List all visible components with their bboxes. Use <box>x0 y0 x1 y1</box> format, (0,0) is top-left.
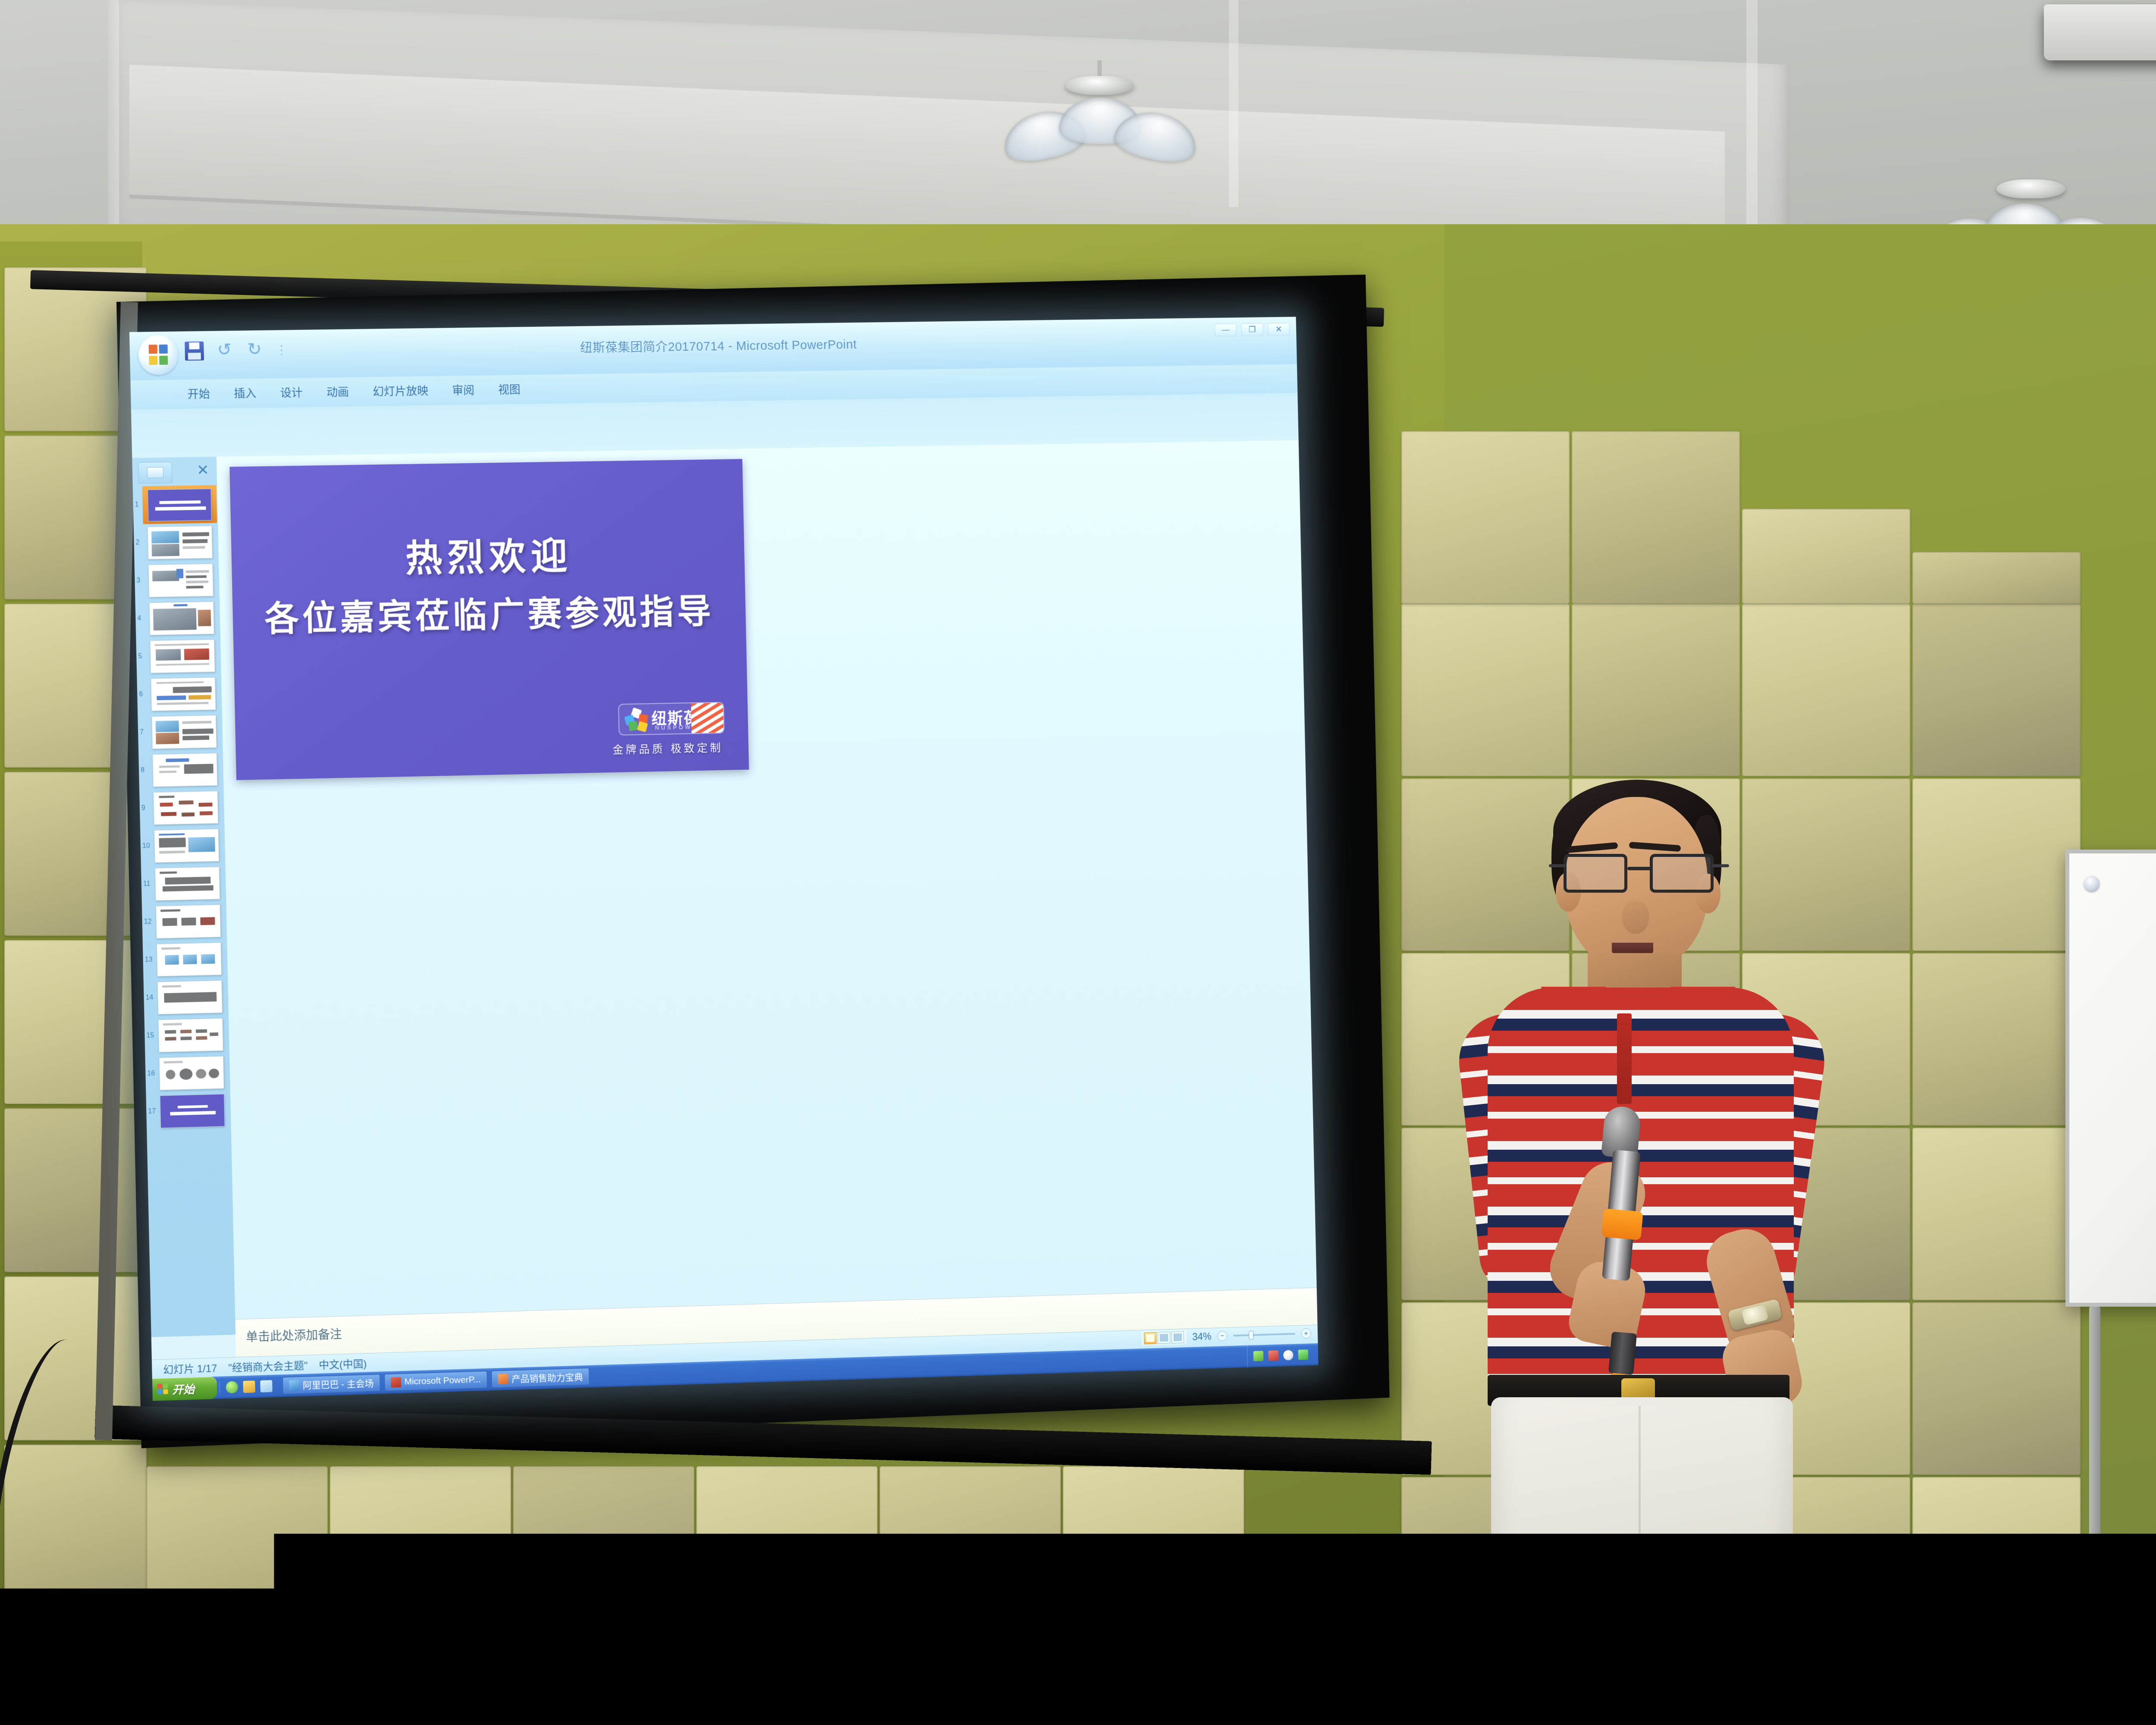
theme-name[interactable]: "经销商大会主题" <box>228 1357 308 1374</box>
tab-slides-thumbnails[interactable] <box>138 462 172 484</box>
slide-thumbnail-image <box>159 1056 224 1091</box>
glasses-bridge <box>1627 867 1651 870</box>
language-indicator[interactable]: 中文(中国) <box>319 1355 367 1372</box>
clock-icon[interactable] <box>1283 1350 1294 1360</box>
slide-thumbnail-12[interactable]: 12 <box>151 904 223 939</box>
window-control-buttons: — ❐ ✕ <box>1215 323 1290 336</box>
slide-thumbnail-image <box>154 829 219 863</box>
trousers <box>1491 1397 1793 1725</box>
tab-design[interactable]: 设计 <box>280 384 303 400</box>
glasses-temple-left <box>1549 864 1566 867</box>
network-icon[interactable] <box>1253 1351 1264 1361</box>
tab-slideshow[interactable]: 幻灯片放映 <box>373 382 429 399</box>
tab-animations[interactable]: 动画 <box>326 383 349 400</box>
taskbar-item-internet[interactable]: 阿里巴巴 - 主会场 <box>282 1374 380 1395</box>
file-explorer-icon[interactable] <box>243 1380 255 1393</box>
light-canopy <box>1065 76 1134 95</box>
glasses-temple-right <box>1712 864 1729 867</box>
logo-star-icon <box>625 709 648 731</box>
slide-show-view-button[interactable] <box>1171 1331 1184 1343</box>
slide-number: 8 <box>141 766 144 774</box>
slide-number: 6 <box>139 690 143 698</box>
tab-review[interactable]: 审阅 <box>452 382 474 398</box>
start-button[interactable]: 开始 <box>152 1377 217 1401</box>
shirt-placket <box>1617 1013 1632 1104</box>
zoom-slider-handle[interactable] <box>1249 1331 1253 1339</box>
slide-editing-area: 热烈欢迎 各位嘉宾莅临广赛参观指导 纽斯葆 NUS <box>216 440 1317 1335</box>
taskbar-item-powerpoint[interactable]: Microsoft PowerP... <box>384 1371 488 1391</box>
tab-insert[interactable]: 插入 <box>234 385 257 401</box>
projector-housing-left <box>2044 4 2156 60</box>
powerpoint-icon <box>391 1377 401 1388</box>
slide-number: 12 <box>144 918 152 926</box>
slide-number: 1 <box>135 501 139 509</box>
slide-thumbnail-8[interactable]: 8 <box>148 753 220 787</box>
company-logo: 纽斯葆 NUSPOWER <box>618 702 724 735</box>
slide-thumbnail-image <box>147 489 212 521</box>
powerpoint-window: ↺ ↻ ⋮ 纽斯葆集团简介20170714 - Microsoft PowerP… <box>129 317 1318 1401</box>
whiteboard-stand-left <box>2089 1307 2100 1721</box>
slide-title-line-2: 各位嘉宾莅临广赛参观指导 <box>232 583 746 641</box>
minimize-button[interactable]: — <box>1215 323 1237 336</box>
quick-launch-bar <box>219 1380 279 1394</box>
notes-placeholder: 单击此处添加备注 <box>246 1325 342 1345</box>
projected-screen-content: ↺ ↻ ⋮ 纽斯葆集团简介20170714 - Microsoft PowerP… <box>129 317 1318 1401</box>
slide-thumbnail-7[interactable]: 7 <box>147 715 219 749</box>
slide-thumbnail-image <box>153 791 218 825</box>
slide-thumbnail-11[interactable]: 11 <box>150 866 222 901</box>
slide-number: 17 <box>148 1108 156 1116</box>
slide-thumbnail-15[interactable]: 15 <box>154 1018 226 1053</box>
zoom-in-button[interactable]: + <box>1301 1328 1311 1339</box>
slide-sorter-view-button[interactable] <box>1158 1332 1171 1344</box>
slide-thumbnail-image <box>148 564 213 597</box>
slide-thumbnail-image <box>160 1094 225 1128</box>
slide-number: 9 <box>141 804 145 812</box>
normal-view-button[interactable] <box>1144 1332 1157 1344</box>
slide-number: 13 <box>145 956 153 964</box>
ceiling-light-left <box>996 60 1203 203</box>
ribbon-tabs: 开始 插入 设计 动画 幻灯片放映 审阅 视图 <box>188 381 521 401</box>
watch-face <box>1741 1305 1768 1325</box>
slide-thumbnail-image <box>149 602 214 636</box>
restore-button[interactable]: ❐ <box>1241 323 1263 336</box>
eyeglasses <box>1564 854 1714 894</box>
taskbar-item-document[interactable]: 产品销售助力宝典 <box>492 1368 590 1388</box>
microphone-lower-body <box>1608 1332 1637 1375</box>
slide-thumbnail-image <box>157 942 222 976</box>
antivirus-icon[interactable] <box>1298 1349 1308 1360</box>
slide-thumbnail-image <box>155 866 220 900</box>
taskbar-item-label: Microsoft PowerP... <box>404 1374 481 1387</box>
slide-counter: 幻灯片 1/17 <box>163 1360 217 1377</box>
show-desktop-icon[interactable] <box>260 1380 272 1393</box>
conference-room: 休息室 <box>0 0 2156 1725</box>
zoom-level: 34% <box>1192 1330 1212 1342</box>
slide-number: 5 <box>138 653 142 661</box>
browser-icon <box>289 1380 299 1391</box>
windows-flag-icon <box>157 1383 169 1395</box>
slide-thumbnail-2[interactable]: 2 <box>143 526 215 560</box>
document-icon <box>498 1374 508 1384</box>
taskbar-item-label: 产品销售助力宝典 <box>511 1370 583 1385</box>
internet-explorer-icon[interactable] <box>226 1381 238 1393</box>
slide-thumbnail-image <box>157 980 222 1014</box>
trouser-seam <box>1639 1406 1641 1725</box>
start-button-label: 开始 <box>172 1380 195 1397</box>
slide-thumbnail-image <box>151 715 216 749</box>
slide-number: 16 <box>147 1070 155 1078</box>
slide-thumbnail-image <box>156 904 221 938</box>
presenter <box>1436 772 1902 1725</box>
window-title: 纽斯葆集团简介20170714 - Microsoft PowerPoint <box>130 329 1297 362</box>
slide-thumbnail-10[interactable]: 10 <box>150 829 222 863</box>
view-mode-buttons <box>1141 1330 1187 1346</box>
slide-number: 15 <box>146 1032 154 1040</box>
slide-thumbnail-9[interactable]: 9 <box>149 791 221 825</box>
slide-thumbnail-image <box>158 1018 223 1053</box>
status-bar-right: 34% − + <box>1141 1326 1311 1345</box>
slide-thumbnail-1[interactable]: 1 <box>142 488 214 522</box>
ceiling-beam-mid <box>1229 0 1238 207</box>
zoom-slider[interactable] <box>1233 1333 1295 1336</box>
slide-thumbnail-17[interactable]: 17 <box>156 1094 228 1128</box>
close-button[interactable]: ✕ <box>1268 323 1290 336</box>
slide-thumbnail-image <box>150 677 216 711</box>
nose <box>1622 901 1649 934</box>
slide-title-line-1: 热烈欢迎 <box>231 523 745 585</box>
taskbar-item-label: 阿里巴巴 - 主会场 <box>303 1377 374 1392</box>
slide-thumbnail-16[interactable]: 16 <box>155 1056 227 1090</box>
light-canopy <box>1996 179 2065 198</box>
lens-right <box>1650 854 1714 893</box>
slide-number: 3 <box>136 577 140 585</box>
slide-number: 11 <box>143 880 150 888</box>
whiteboard <box>2065 850 2156 1307</box>
slide-thumbnail-image <box>150 639 215 673</box>
slide-number: 10 <box>142 842 150 850</box>
slides-outline-tabs: ✕ <box>135 458 213 486</box>
tab-view[interactable]: 视图 <box>498 381 520 397</box>
slide-thumbnail-image <box>152 753 217 787</box>
slide-number: 14 <box>145 994 153 1002</box>
current-slide[interactable]: 热烈欢迎 各位嘉宾莅临广赛参观指导 纽斯葆 NUS <box>229 459 749 780</box>
slide-thumbnail-14[interactable]: 14 <box>153 980 225 1015</box>
whiteboard-surface <box>2069 853 2156 1303</box>
zoom-out-button[interactable]: − <box>1217 1331 1228 1341</box>
slide-thumbnail-5[interactable]: 5 <box>146 639 218 673</box>
volume-icon[interactable] <box>1268 1350 1279 1361</box>
tab-home[interactable]: 开始 <box>188 385 210 401</box>
slide-thumbnail-6[interactable]: 6 <box>147 677 219 711</box>
system-tray <box>1247 1343 1314 1367</box>
whiteboard-magnet <box>2084 876 2100 891</box>
lens-left <box>1564 854 1627 893</box>
slide-number: 4 <box>137 615 141 623</box>
logo-flag-stripes <box>691 703 724 733</box>
slide-thumbnail-image <box>147 526 213 559</box>
logo-tagline: 金牌品质 极致定制 <box>613 740 724 757</box>
microphone-grip <box>1601 1208 1643 1240</box>
slide-number: 7 <box>140 728 144 736</box>
slide-thumbnail-4[interactable]: 4 <box>145 602 217 636</box>
close-panel-icon[interactable]: ✕ <box>197 463 209 477</box>
slide-thumbnail-13[interactable]: 13 <box>152 942 224 977</box>
slide-thumbnail-3[interactable]: 3 <box>144 564 216 598</box>
slide-number: 2 <box>135 539 139 547</box>
